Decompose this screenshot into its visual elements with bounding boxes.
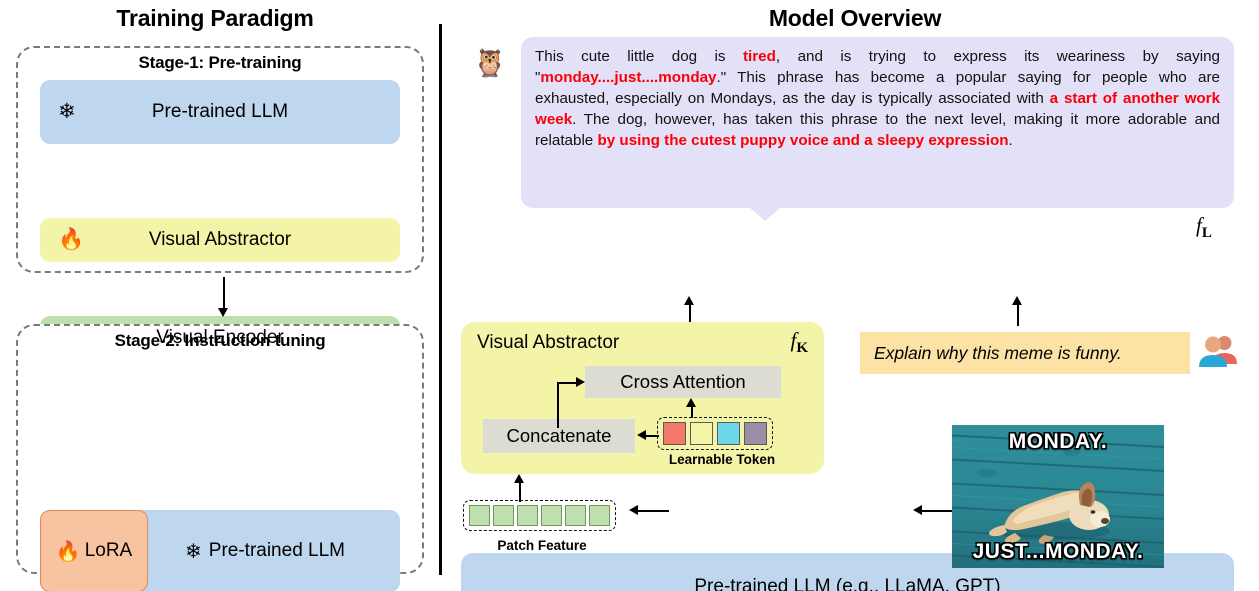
patch-feature-cell	[469, 505, 490, 526]
patch-feature-cell	[493, 505, 514, 526]
patch-feature-group	[463, 500, 616, 531]
stage-1-label: Stage-1: Pre-training	[16, 53, 424, 73]
stage1-row-llm: ❄ Pre-trained LLM	[40, 80, 400, 144]
abstractor-to-llm-arrow	[684, 296, 696, 322]
stage2-row-llm-label: Pre-trained LLM	[209, 540, 345, 562]
stage1-row-encoder-label: Visual Encoder	[156, 327, 283, 349]
fire-icon: 🔥	[58, 229, 84, 250]
stage1-row-abstractor-label: Visual Abstractor	[149, 229, 291, 251]
response-highlight: tired	[743, 48, 776, 65]
cross-attention-label: Cross Attention	[620, 371, 745, 393]
learnable-token	[717, 422, 740, 445]
meme-bottom-text: JUST...MONDAY.	[952, 540, 1164, 564]
patch-feature-cell	[517, 505, 538, 526]
learnable-token	[690, 422, 713, 445]
snowflake-icon: ❄	[58, 101, 76, 122]
response-highlight: a start of another work week	[535, 90, 1220, 128]
instruction-to-llm-arrow	[1012, 296, 1024, 326]
snowflake-icon: ❄	[185, 539, 202, 563]
people-icon	[1196, 330, 1240, 374]
instruction-text: Explain why this meme is funny.	[874, 343, 1122, 364]
user-avatar	[1196, 330, 1240, 374]
concatenate-label: Concatenate	[507, 425, 612, 447]
stage1-row-llm-label: Pre-trained LLM	[152, 101, 288, 123]
right-panel-title: Model Overview	[455, 5, 1255, 32]
owl-icon: 🦉	[473, 50, 507, 77]
patch-feature-cell	[565, 505, 586, 526]
token-to-concat-arrow	[637, 430, 659, 442]
patch-to-concat-arrow	[514, 474, 526, 502]
meme-to-encoder-arrow	[913, 505, 956, 517]
learnable-token-group	[657, 417, 773, 450]
learnable-token	[663, 422, 686, 445]
stage1-row-abstractor: 🔥 Visual Abstractor	[40, 218, 400, 262]
assistant-response-text: This cute little dog is tired, and is tr…	[535, 48, 1220, 149]
stage2-row-llm: 🔥 LoRA ❄ Pre-trained LLM	[40, 510, 400, 591]
lora-chip: 🔥 LoRA	[40, 510, 148, 591]
assistant-response-bubble: This cute little dog is tired, and is tr…	[521, 37, 1234, 208]
learnable-token	[744, 422, 767, 445]
response-highlight: by using the cutest puppy voice and a sl…	[597, 132, 1008, 149]
cross-attention-box: Cross Attention	[585, 366, 781, 398]
patch-feature-cell	[589, 505, 610, 526]
patch-feature-caption: Patch Feature	[463, 538, 621, 553]
left-panel-title: Training Paradigm	[0, 5, 430, 32]
meme-image: MONDAY. JUST...MONDAY.	[952, 425, 1164, 568]
encoder-to-patch-arrow	[629, 505, 669, 517]
learnable-token-caption: Learnable Token	[642, 452, 802, 467]
fire-icon: 🔥	[56, 539, 81, 563]
stage-transition-arrow	[218, 277, 230, 317]
meme-top-text: MONDAY.	[952, 430, 1164, 454]
response-highlight: monday....just....monday	[540, 69, 716, 86]
patch-feature-cell	[541, 505, 562, 526]
lora-label: LoRA	[85, 540, 133, 562]
llm-box-label: Pre-trained LLM (e.g., LLaMA, GPT)	[694, 576, 1000, 591]
bubble-tail	[749, 207, 781, 221]
token-to-cross-arrow	[686, 398, 698, 418]
visual-abstractor-title: Visual Abstractor	[477, 332, 619, 354]
abstractor-symbol-label: fK	[790, 328, 808, 357]
panel-divider	[439, 24, 442, 575]
figure-root: Training Paradigm Stage-1: Pre-training …	[0, 0, 1259, 591]
instruction-input[interactable]: Explain why this meme is funny.	[860, 332, 1190, 374]
llm-symbol-label: fL	[1196, 213, 1212, 242]
visual-abstractor-panel: Visual Abstractor fK Cross Attention Con…	[461, 322, 824, 474]
concat-to-cross-arrow	[557, 380, 587, 428]
